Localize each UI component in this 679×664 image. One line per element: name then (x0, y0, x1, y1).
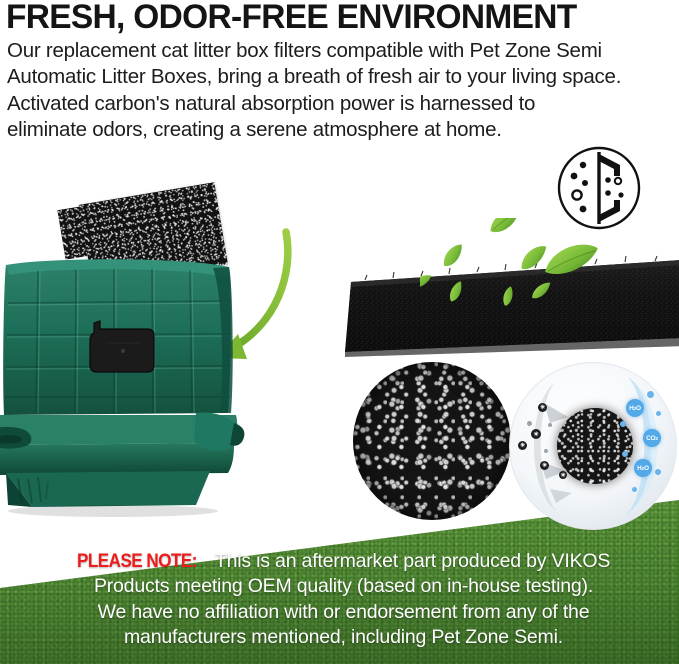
page-title: FRESH, ODOR-FREE ENVIRONMENT (6, 0, 668, 36)
disclaimer-line-3: We have no affiliation with or endorseme… (16, 600, 671, 625)
carbon-core (557, 408, 633, 484)
odor-particle (548, 423, 552, 427)
clean-particle (632, 487, 637, 492)
odor-molecule: ✳ (531, 429, 541, 439)
odor-molecule: ✳ (540, 461, 549, 470)
product-marketing-image: FRESH, ODOR-FREE ENVIRONMENT Our replace… (0, 0, 679, 664)
floating-leaves (420, 218, 679, 343)
odor-particle (527, 421, 532, 426)
body-copy: Our replacement cat litter box filters c… (7, 38, 675, 144)
filter-compartment (90, 321, 154, 372)
litter-box-illustration (0, 255, 328, 520)
clean-particle (655, 469, 661, 475)
disclaimer-line-2: Products meeting OEM quality (based on i… (16, 574, 671, 599)
clean-molecule-co2: CO2 (643, 429, 661, 447)
disclaimer-line-text: This is an aftermarket part produced by … (210, 550, 610, 572)
odor-particle (544, 449, 548, 453)
body-line: eliminate odors, creating a serene atmos… (7, 117, 675, 143)
body-line: Activated carbon's natural absorption po… (7, 91, 675, 117)
clean-particle (656, 411, 661, 416)
carbon-closeup-inset (353, 362, 511, 520)
clean-particle (622, 451, 628, 457)
please-note-label: PLEASE NOTE: (77, 549, 197, 574)
disclaimer: PLEASE NOTE: This is an aftermarket part… (16, 549, 671, 651)
absorption-diagram-inset: ✳ ✳ ✳ ✳ ✳ H2O CO2 H2O (509, 362, 677, 530)
odor-molecule: ✳ (559, 471, 567, 479)
odor-molecule: ✳ (518, 441, 527, 450)
disclaimer-line-4: manufacturers mentioned, including Pet Z… (16, 625, 671, 650)
clean-particle (620, 421, 626, 427)
clean-particle (647, 391, 654, 398)
disclaimer-line-1: PLEASE NOTE: This is an aftermarket part… (16, 549, 671, 574)
body-line: Our replacement cat litter box filters c… (7, 38, 675, 64)
clean-molecule-h2o: H2O (634, 459, 652, 477)
body-line: Automatic Litter Boxes, bring a breath o… (7, 64, 675, 90)
clean-molecule-h2o: H2O (626, 399, 644, 417)
odor-molecule: ✳ (538, 403, 547, 412)
